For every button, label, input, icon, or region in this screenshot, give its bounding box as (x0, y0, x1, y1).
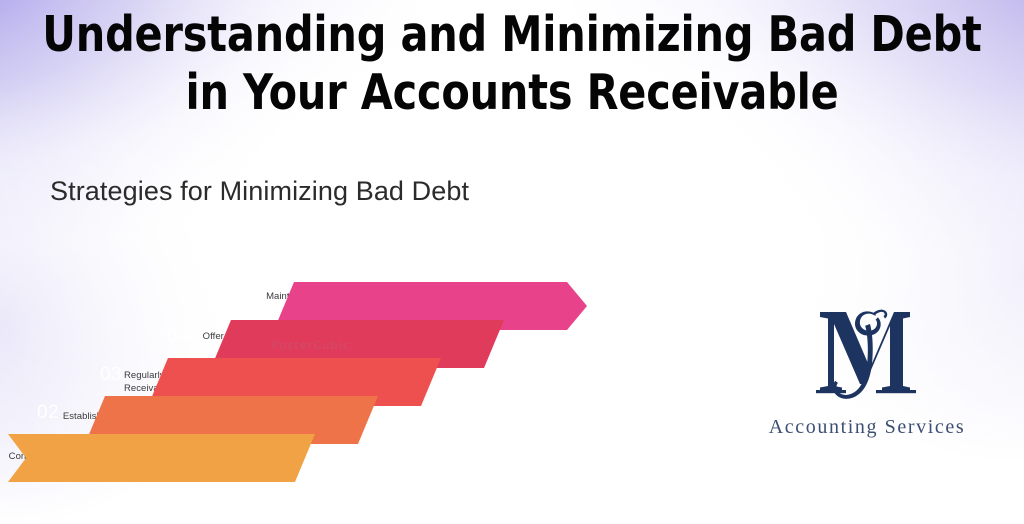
slide-canvas: Understanding and Minimizing Bad Debt in… (0, 0, 1024, 524)
company-logo: Accounting Services (762, 290, 972, 455)
jm-monogram-icon (772, 290, 962, 420)
staircase-diagram: 05 04 03 02 01 (0, 268, 620, 498)
step-number-02: 02 (37, 402, 59, 424)
page-title: Understanding and Minimizing Bad Debt in… (0, 6, 1024, 122)
title-line-2: in Your Accounts Receivable (31, 64, 994, 122)
section-subtitle: Strategies for Minimizing Bad Debt (50, 176, 469, 207)
logo-subtitle: Accounting Services (762, 416, 972, 439)
title-line-1: Understanding and Minimizing Bad Debt (31, 6, 994, 64)
step-shape-01[interactable] (8, 434, 315, 482)
step-number-05: 05 (236, 287, 258, 309)
staircase-svg (0, 268, 620, 498)
step-number-03: 03 (100, 364, 122, 386)
step-number-04: 04 (167, 326, 189, 348)
